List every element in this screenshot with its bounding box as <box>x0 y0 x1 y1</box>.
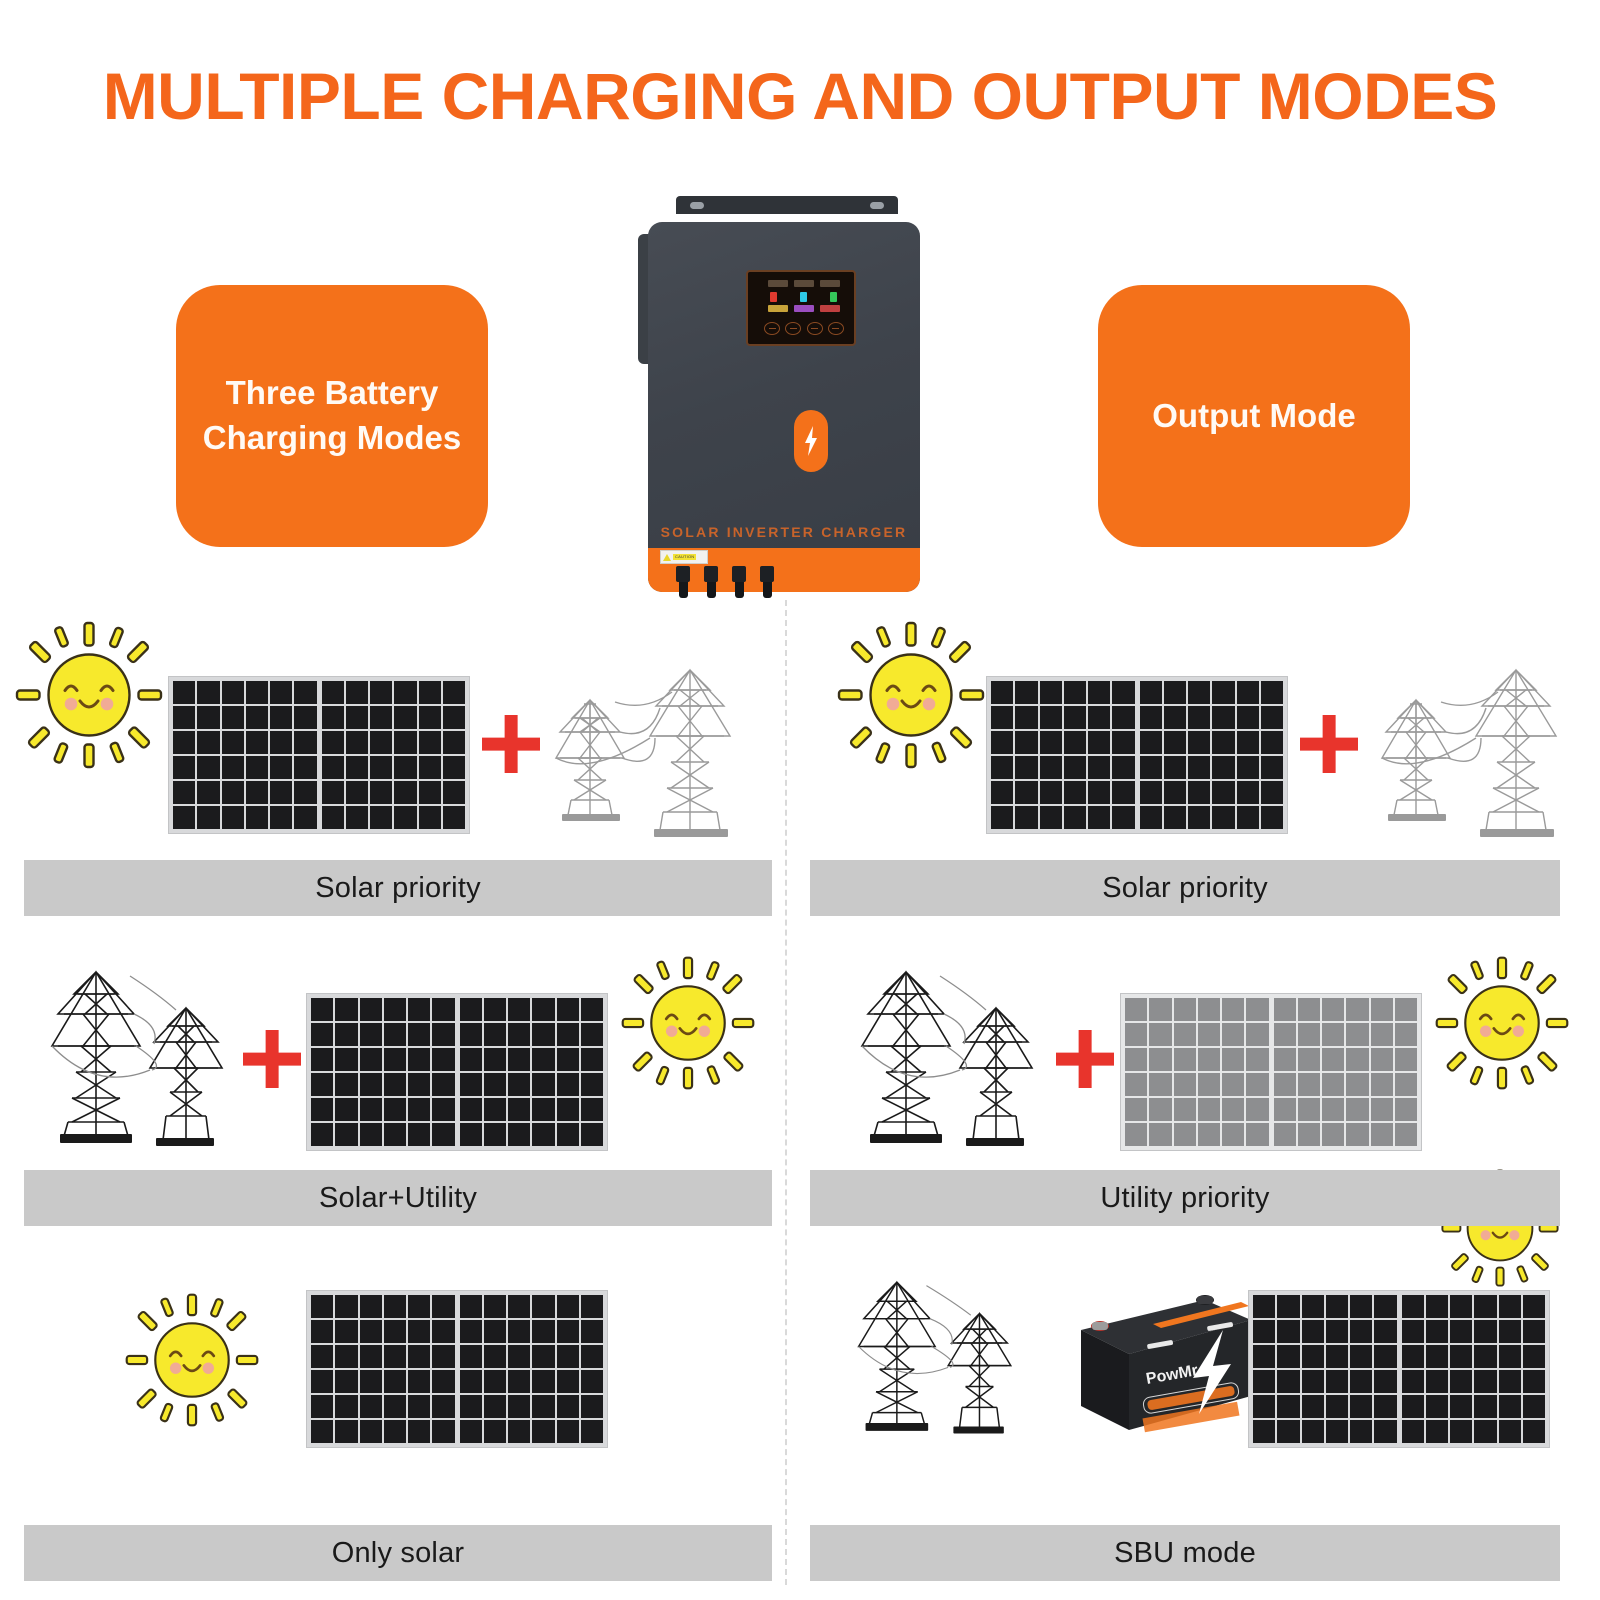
mode-label: SBU mode <box>1114 1537 1256 1570</box>
dc-connectors <box>676 566 806 598</box>
connector <box>676 566 690 598</box>
lcd-top-readouts <box>768 280 840 290</box>
connector <box>760 566 774 598</box>
page-title: MULTIPLE CHARGING AND OUTPUT MODES <box>0 58 1600 134</box>
lcd-icon-battery <box>800 292 807 302</box>
panel-half-left <box>991 681 1135 829</box>
lcd-icon-solar <box>770 292 777 302</box>
panel-half-right <box>1402 1295 1546 1443</box>
panel-half-right <box>1274 998 1418 1146</box>
infographic-root: MULTIPLE CHARGING AND OUTPUT MODES Three… <box>0 0 1600 1600</box>
panel-half-right <box>460 998 604 1146</box>
panel-half-left <box>311 998 455 1146</box>
solar-panel <box>1248 1290 1550 1448</box>
badge-right-label: Output Mode <box>1152 394 1355 439</box>
solar-panel <box>986 676 1288 834</box>
mode-label-bar: Utility priority <box>810 1170 1560 1226</box>
mode-label-bar: Solar priority <box>24 860 772 916</box>
badge-output-mode: Output Mode <box>1098 285 1410 547</box>
solar-panel-inactive <box>1120 993 1422 1151</box>
lcd-button-down[interactable] <box>785 322 801 335</box>
plus-sign <box>243 1030 301 1088</box>
lcd-display[interactable] <box>746 270 856 346</box>
plus-sign <box>1056 1030 1114 1088</box>
solar-panel <box>168 676 470 834</box>
mode-label: Solar+Utility <box>319 1182 477 1215</box>
badge-three-battery-charging-modes: Three Battery Charging Modes <box>176 285 488 547</box>
column-divider <box>785 600 787 1585</box>
power-towers <box>530 640 760 840</box>
sun-icon <box>14 620 164 770</box>
lcd-button-up[interactable] <box>764 322 780 335</box>
panel-half-right <box>322 681 466 829</box>
mode-label: Solar priority <box>315 872 481 905</box>
inverter-body: SOLAR INVERTER CHARGER CAUTION <box>648 222 920 592</box>
lcd-button-enter[interactable] <box>807 322 823 335</box>
sun-icon <box>1434 955 1570 1091</box>
sun-icon <box>124 1292 260 1428</box>
connector <box>732 566 746 598</box>
solar-inverter-device: SOLAR INVERTER CHARGER CAUTION <box>620 196 940 616</box>
power-towers <box>1356 640 1586 840</box>
connector <box>704 566 718 598</box>
device-brand-text: SOLAR INVERTER CHARGER <box>648 524 920 540</box>
lcd-cell <box>794 305 814 312</box>
mode-label-bar: Solar+Utility <box>24 1170 772 1226</box>
sun-icon <box>620 955 756 1091</box>
mode-label-bar: Only solar <box>24 1525 772 1581</box>
power-towers <box>836 950 1066 1150</box>
warning-triangle-icon <box>663 554 671 561</box>
lcd-cell <box>768 280 788 287</box>
lcd-graphics <box>768 280 840 314</box>
lcd-button-row[interactable] <box>764 322 844 335</box>
battery: PowMr <box>1055 1272 1255 1447</box>
badge-left-line2: Charging Modes <box>203 416 462 461</box>
mode-label-bar: Solar priority <box>810 860 1560 916</box>
solar-panel <box>306 993 608 1151</box>
mode-label: Utility priority <box>1100 1182 1269 1215</box>
panel-half-left <box>1253 1295 1397 1443</box>
caution-text: CAUTION <box>673 554 696 560</box>
panel-half-right <box>1140 681 1284 829</box>
lcd-bottom-readouts <box>768 305 840 315</box>
mode-label: Only solar <box>332 1537 465 1570</box>
power-button[interactable] <box>794 410 828 472</box>
lcd-icon-load <box>830 292 837 302</box>
lcd-status-icons <box>768 292 840 303</box>
plus-sign <box>1300 715 1358 773</box>
panel-half-left <box>1125 998 1269 1146</box>
mode-label-bar: SBU mode <box>810 1525 1560 1581</box>
mode-label: Solar priority <box>1102 872 1268 905</box>
lcd-cell <box>820 280 840 287</box>
sun-icon <box>836 620 986 770</box>
power-towers <box>26 950 256 1150</box>
caution-label: CAUTION <box>660 550 708 564</box>
panel-half-left <box>173 681 317 829</box>
wall-mount-bracket <box>676 196 898 214</box>
solar-panel <box>306 1290 608 1448</box>
panel-half-right <box>460 1295 604 1443</box>
badge-left-line1: Three Battery <box>203 371 462 416</box>
lcd-cell <box>794 280 814 287</box>
lcd-cell <box>768 305 788 312</box>
lightning-bolt-icon <box>803 426 819 456</box>
lcd-button-escape[interactable] <box>828 322 844 335</box>
panel-half-left <box>311 1295 455 1443</box>
power-towers <box>836 1260 1036 1440</box>
lcd-cell <box>820 305 840 312</box>
